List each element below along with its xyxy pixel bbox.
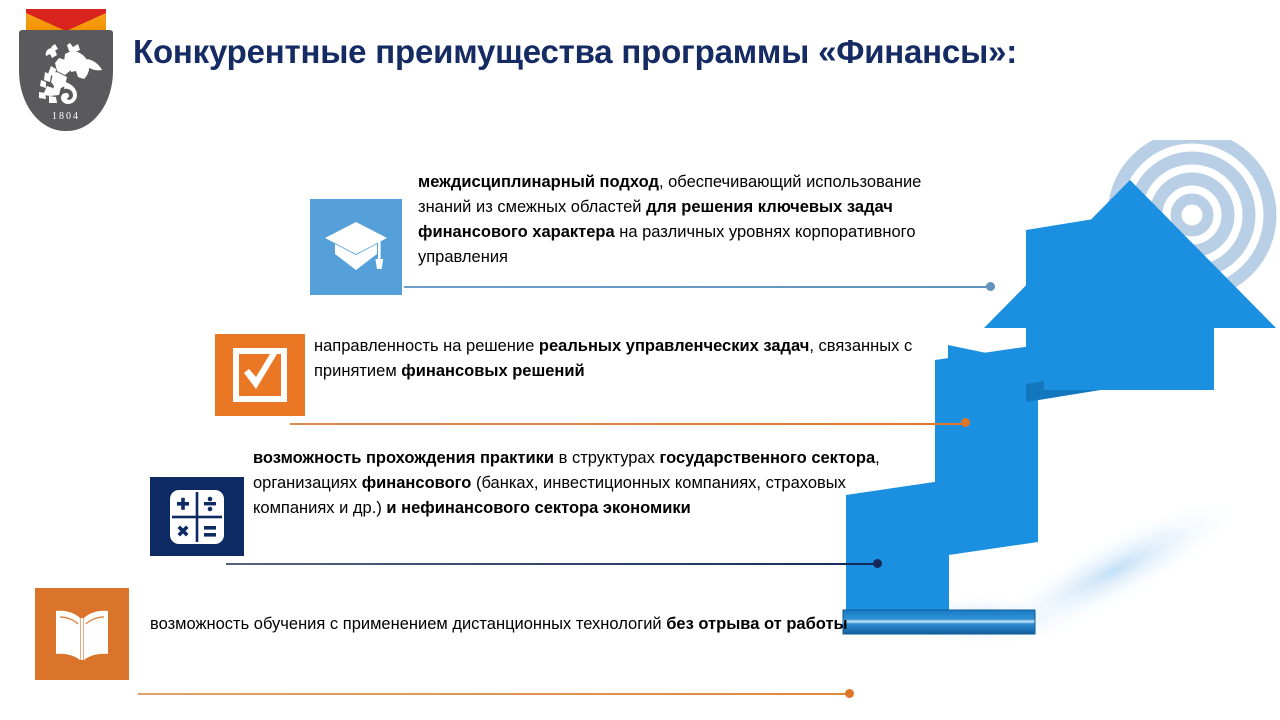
advantage-item-2-text: направленность на решение реальных управ…	[314, 334, 954, 384]
advantage-item-4-connector-dot	[845, 689, 854, 698]
text-run-regular: возможность обучения с применением диста…	[150, 615, 666, 633]
checkbox-check-icon	[215, 334, 305, 416]
text-run-bold: финансового	[362, 474, 472, 492]
university-logo: 1804	[19, 9, 113, 131]
text-run-bold: междисциплинарный подход	[418, 173, 659, 191]
text-run-bold: реальных управленческих задач	[539, 337, 809, 355]
text-run-regular: в структурах	[554, 449, 659, 467]
advantage-item-4-connector-line	[138, 693, 848, 695]
logo-year-label: 1804	[19, 111, 113, 122]
griffin-emblem-icon	[27, 36, 105, 108]
arrow-base-platform	[843, 610, 1035, 634]
advantage-item-1-text: междисциплинарный подход, обеспечивающий…	[418, 170, 978, 270]
logo-shield: 1804	[19, 30, 113, 131]
text-run-bold: без отрыва от работы	[666, 615, 847, 633]
graduation-cap-icon	[310, 199, 402, 295]
advantage-item-3-connector-dot	[873, 559, 882, 568]
text-run-bold: возможность прохождения практики	[253, 449, 554, 467]
advantage-item-3-connector-line	[226, 563, 878, 565]
slide-canvas: 1804 Конкурентные преимущества программы…	[0, 0, 1280, 720]
advantage-item-4-text: возможность обучения с применением диста…	[150, 612, 850, 637]
advantage-item-1-connector-line	[404, 286, 990, 288]
logo-banner-chevron-icon	[26, 9, 106, 31]
text-run-regular: направленность на решение	[314, 337, 539, 355]
text-run-bold: финансовых решений	[401, 362, 584, 380]
text-run-bold: государственного сектора	[659, 449, 875, 467]
logo-banner	[26, 9, 106, 31]
text-run-bold: и нефинансового сектора экономики	[386, 499, 690, 517]
page-title: Конкурентные преимущества программы «Фин…	[133, 33, 1193, 71]
advantage-item-2-connector-line	[290, 423, 966, 425]
calculator-icon	[150, 477, 244, 556]
advantage-item-3-text: возможность прохождения практики в струк…	[253, 446, 893, 521]
advantage-item-2-connector-dot	[961, 418, 970, 427]
advantage-item-1-connector-dot	[986, 282, 995, 291]
open-book-icon	[35, 588, 129, 680]
